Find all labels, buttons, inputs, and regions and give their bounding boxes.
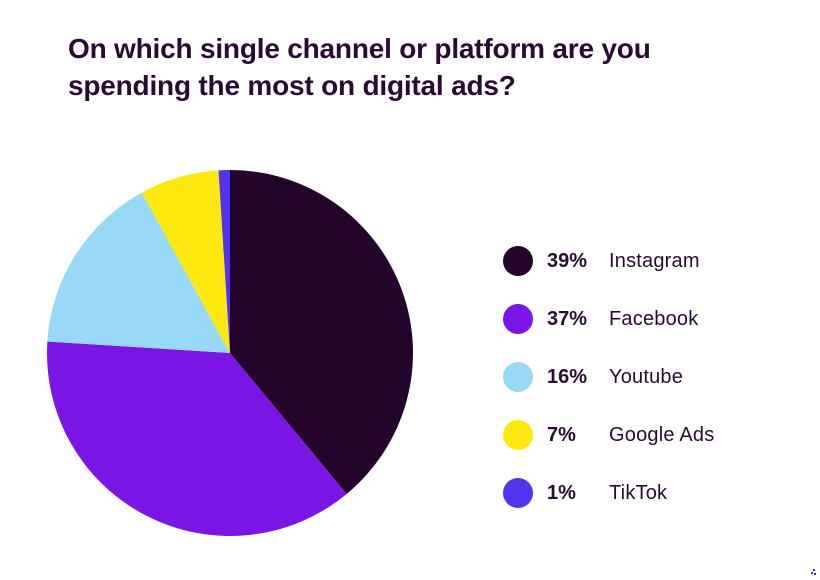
legend-swatch-google-ads	[503, 420, 533, 450]
pie-chart	[47, 170, 413, 536]
legend-label: Youtube	[609, 366, 683, 389]
legend-label: TikTok	[609, 482, 667, 505]
legend-item[interactable]: 39%Instagram	[503, 232, 803, 290]
legend-item[interactable]: 16%Youtube	[503, 348, 803, 406]
legend-percent: 16%	[547, 366, 609, 389]
legend-percent: 37%	[547, 308, 609, 331]
legend-item[interactable]: 7%Google Ads	[503, 406, 803, 464]
legend-item[interactable]: 1%TikTok	[503, 464, 803, 522]
pie-slice-group	[47, 170, 413, 536]
legend-item[interactable]: 37%Facebook	[503, 290, 803, 348]
legend-swatch-facebook	[503, 304, 533, 334]
legend-percent: 1%	[547, 482, 609, 505]
legend-label: Google Ads	[609, 424, 714, 447]
corner-logo-mark	[808, 568, 817, 577]
legend-swatch-youtube	[503, 362, 533, 392]
legend-percent: 7%	[547, 424, 609, 447]
pie-chart-card: On which single channel or platform are …	[0, 0, 820, 580]
legend-swatch-tiktok	[503, 478, 533, 508]
legend-label: Facebook	[609, 308, 698, 331]
legend-label: Instagram	[609, 250, 700, 273]
page-title: On which single channel or platform are …	[68, 30, 768, 104]
pie-chart-svg	[47, 170, 413, 536]
chart-legend: 39%Instagram37%Facebook16%Youtube7%Googl…	[503, 232, 803, 522]
legend-percent: 39%	[547, 250, 609, 273]
legend-swatch-instagram	[503, 246, 533, 276]
